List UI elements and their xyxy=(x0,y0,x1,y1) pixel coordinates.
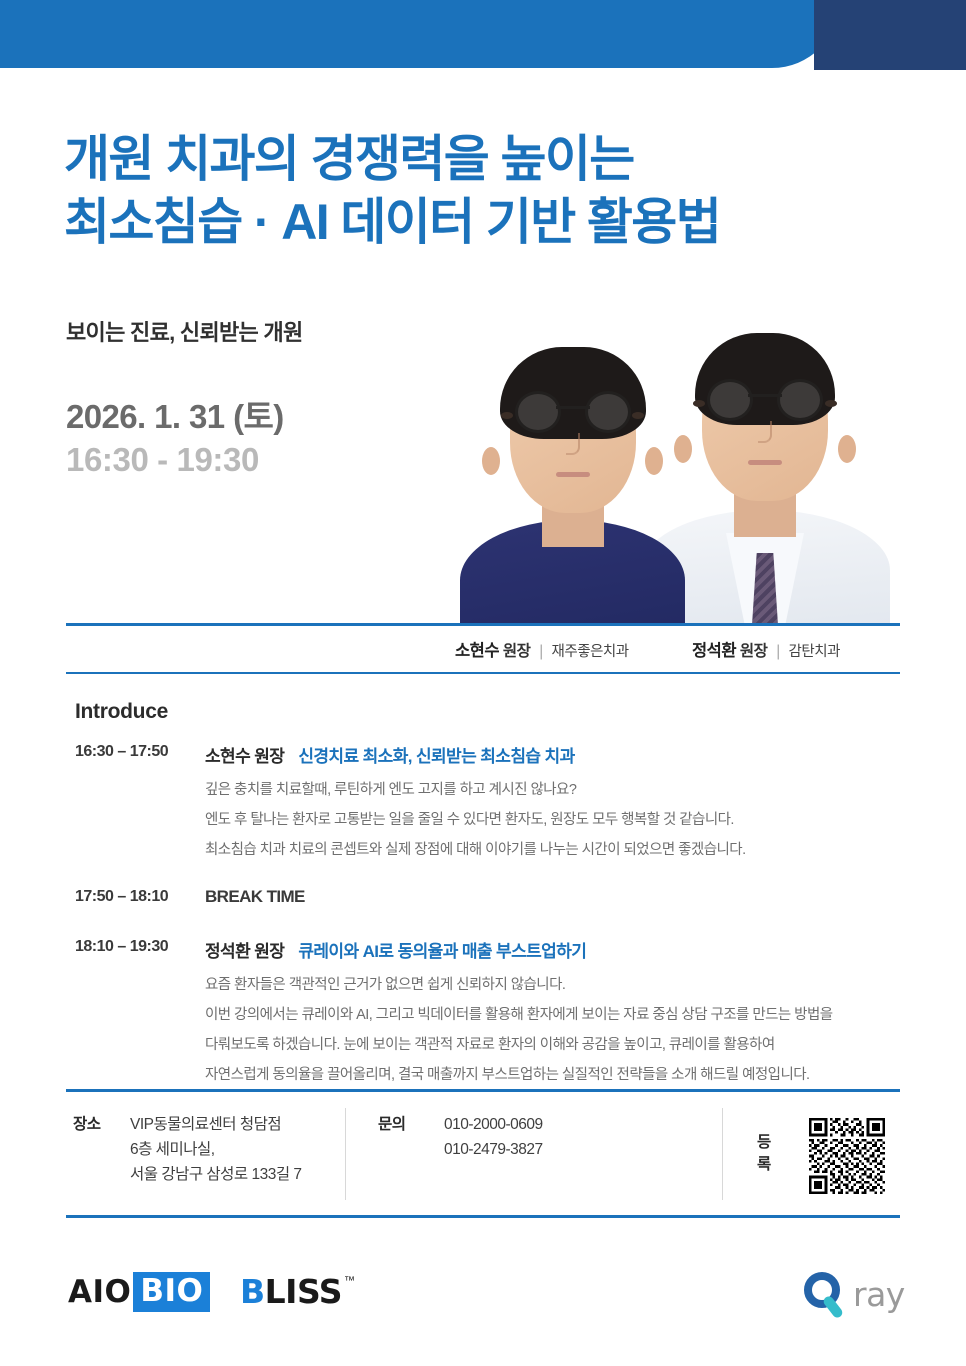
glasses-lens-left xyxy=(515,391,561,433)
poster-subtitle: 보이는 진료, 신뢰받는 개원 xyxy=(66,315,303,347)
speaker-role: 원장 xyxy=(503,643,531,660)
agenda-speaker: 소현수 원장 xyxy=(205,747,284,766)
contact-phone[interactable]: 010-2479-3827 xyxy=(444,1137,543,1162)
glasses-icon xyxy=(704,379,826,417)
venue-block: 장소 VIP동물의료센터 청담점 6층 세미나실, 서울 강남구 삼성로 133… xyxy=(73,1112,302,1187)
speaker-role: 원장 xyxy=(740,643,768,660)
speaker-photo-so xyxy=(460,340,685,625)
bliss-logo-rest: LISS xyxy=(265,1272,342,1311)
qray-logo: ray xyxy=(800,1268,905,1320)
aiobio-logo: AIO BIO xyxy=(68,1272,210,1312)
agenda-description-line: 이번 강의에서는 큐레이와 AI, 그리고 빅데이터를 활용해 환자에게 보이는… xyxy=(205,1005,905,1027)
agenda-heading: BREAK TIME xyxy=(205,887,905,907)
agenda-description-line: 엔도 후 탈나는 환자로 고통받는 일을 줄일 수 있다면 환자도, 원장도 모… xyxy=(205,810,905,832)
agenda-description: 요즘 환자들은 객관적인 근거가 없으면 쉽게 신뢰하지 않습니다. 이번 강의… xyxy=(205,975,905,1086)
divider-above-logos xyxy=(66,1215,900,1218)
speaker-name: 정석환 xyxy=(692,642,736,660)
logo-bar: AIO BIO B LISS ™ ray xyxy=(0,1268,966,1328)
agenda-description-line: 요즘 환자들은 객관적인 근거가 없으면 쉽게 신뢰하지 않습니다. xyxy=(205,975,905,997)
speaker-separator: | xyxy=(539,643,543,660)
register-label: 등록 xyxy=(757,1130,771,1174)
qray-logo-text: ray xyxy=(853,1275,905,1314)
trademark-icon: ™ xyxy=(344,1275,355,1287)
event-date: 2026. 1. 31 (토) xyxy=(66,390,284,438)
ear-right xyxy=(645,447,663,475)
nose xyxy=(566,433,580,455)
agenda-list: 16:30 – 17:50 소현수 원장신경치료 최소화, 신뢰받는 최소침습 … xyxy=(75,742,905,1112)
poster-title: 개원 치과의 경쟁력을 높이는 최소침습 · AI 데이터 기반 활용법 xyxy=(64,128,924,254)
speaker-clinic: 재주좋은치과 xyxy=(552,644,629,660)
aiobio-logo-aio: AIO xyxy=(68,1274,131,1310)
glasses-lens-right xyxy=(777,379,823,421)
speaker-separator: | xyxy=(776,643,780,660)
agenda-description-line: 다뤄보도록 하겠습니다. 눈에 보이는 객관적 자료로 환자의 이해와 공감을 … xyxy=(205,1035,905,1057)
venue-line: VIP동물의료센터 청담점 xyxy=(130,1112,302,1137)
agenda-time: 18:10 – 19:30 xyxy=(75,938,205,956)
agenda-row: 17:50 – 18:10 BREAK TIME xyxy=(75,887,905,907)
glasses-bridge xyxy=(556,406,590,409)
agenda-topic: 큐레이와 AI로 동의율과 매출 부스트업하기 xyxy=(298,942,586,961)
speaker-credit-1: 소현수 원장 | 재주좋은치과 xyxy=(455,637,629,661)
agenda-row: 16:30 – 17:50 소현수 원장신경치료 최소화, 신뢰받는 최소침습 … xyxy=(75,742,905,861)
agenda-description-line: 자연스럽게 동의율을 끌어올리며, 결국 매출까지 부스트업하는 실질적인 전략… xyxy=(205,1065,905,1087)
section-title-introduce: Introduce xyxy=(75,700,168,724)
speaker-credits: 소현수 원장 | 재주좋은치과 정석환 원장 | 감탄치과 xyxy=(400,637,900,665)
agenda-heading: 소현수 원장신경치료 최소화, 신뢰받는 최소침습 치과 xyxy=(205,742,905,767)
agenda-topic: 신경치료 최소화, 신뢰받는 최소침습 치과 xyxy=(298,747,574,766)
bliss-logo: B LISS ™ xyxy=(240,1272,355,1311)
agenda-heading: 정석환 원장큐레이와 AI로 동의율과 매출 부스트업하기 xyxy=(205,937,905,962)
agenda-break-label: BREAK TIME xyxy=(205,887,305,906)
qr-code-icon[interactable] xyxy=(807,1116,891,1200)
title-line-1: 개원 치과의 경쟁력을 높이는 xyxy=(64,128,924,191)
footer-divider-1 xyxy=(345,1108,346,1200)
agenda-time: 16:30 – 17:50 xyxy=(75,743,205,761)
glasses-icon xyxy=(512,391,634,429)
eye-right xyxy=(632,412,644,419)
speaker-name: 소현수 xyxy=(455,642,499,660)
agenda-description-line: 깊은 충치를 치료할때, 루틴하게 엔도 고지를 하고 계시진 않나요? xyxy=(205,780,905,802)
glasses-lens-left xyxy=(707,379,753,421)
speaker-credit-2: 정석환 원장 | 감탄치과 xyxy=(692,637,840,661)
agenda-row: 18:10 – 19:30 정석환 원장큐레이와 AI로 동의율과 매출 부스트… xyxy=(75,937,905,1086)
aiobio-logo-bio: BIO xyxy=(133,1272,210,1312)
venue-line: 서울 강남구 삼성로 133길 7 xyxy=(130,1162,302,1187)
venue-label: 장소 xyxy=(73,1112,101,1134)
qr-code-svg xyxy=(809,1118,885,1194)
contact-label: 문의 xyxy=(378,1112,406,1134)
speakers-photo xyxy=(425,330,915,625)
contact-phone[interactable]: 010-2000-0609 xyxy=(444,1112,543,1137)
contact-lines: 010-2000-0609 010-2479-3827 xyxy=(444,1112,543,1162)
event-time: 16:30 - 19:30 xyxy=(66,441,259,479)
glasses-lens-right xyxy=(585,391,631,433)
eye-right xyxy=(825,400,837,407)
speaker-clinic: 감탄치과 xyxy=(789,644,840,660)
footer-info: 장소 VIP동물의료센터 청담점 6층 세미나실, 서울 강남구 삼성로 133… xyxy=(0,1108,966,1208)
glasses-bridge xyxy=(748,394,782,397)
ear-right xyxy=(838,435,856,463)
agenda-description-line: 최소침습 치과 치료의 콘셉트와 실제 장점에 대해 이야기를 나누는 시간이 … xyxy=(205,840,905,862)
divider-above-speakers xyxy=(66,623,900,626)
bliss-logo-b: B xyxy=(240,1272,265,1311)
title-line-2: 최소침습 · AI 데이터 기반 활용법 xyxy=(64,191,924,254)
banner-navy-shape xyxy=(814,0,966,70)
contact-block: 문의 010-2000-0609 010-2479-3827 xyxy=(378,1112,543,1162)
agenda-speaker: 정석환 원장 xyxy=(205,942,284,961)
agenda-time: 17:50 – 18:10 xyxy=(75,888,205,906)
venue-line: 6층 세미나실, xyxy=(130,1137,302,1162)
banner-blue-shape xyxy=(0,0,840,68)
nose xyxy=(758,421,772,443)
divider-below-speakers xyxy=(66,672,900,674)
qray-logo-mark xyxy=(800,1268,852,1320)
footer-divider-2 xyxy=(722,1108,723,1200)
ear-left xyxy=(482,447,500,475)
top-banner xyxy=(0,0,966,70)
venue-lines: VIP동물의료센터 청담점 6층 세미나실, 서울 강남구 삼성로 133길 7 xyxy=(130,1112,302,1187)
divider-above-footer xyxy=(66,1089,900,1092)
mouth xyxy=(748,460,782,465)
agenda-description: 깊은 충치를 치료할때, 루틴하게 엔도 고지를 하고 계시진 않나요? 엔도 … xyxy=(205,780,905,861)
mouth xyxy=(556,472,590,477)
